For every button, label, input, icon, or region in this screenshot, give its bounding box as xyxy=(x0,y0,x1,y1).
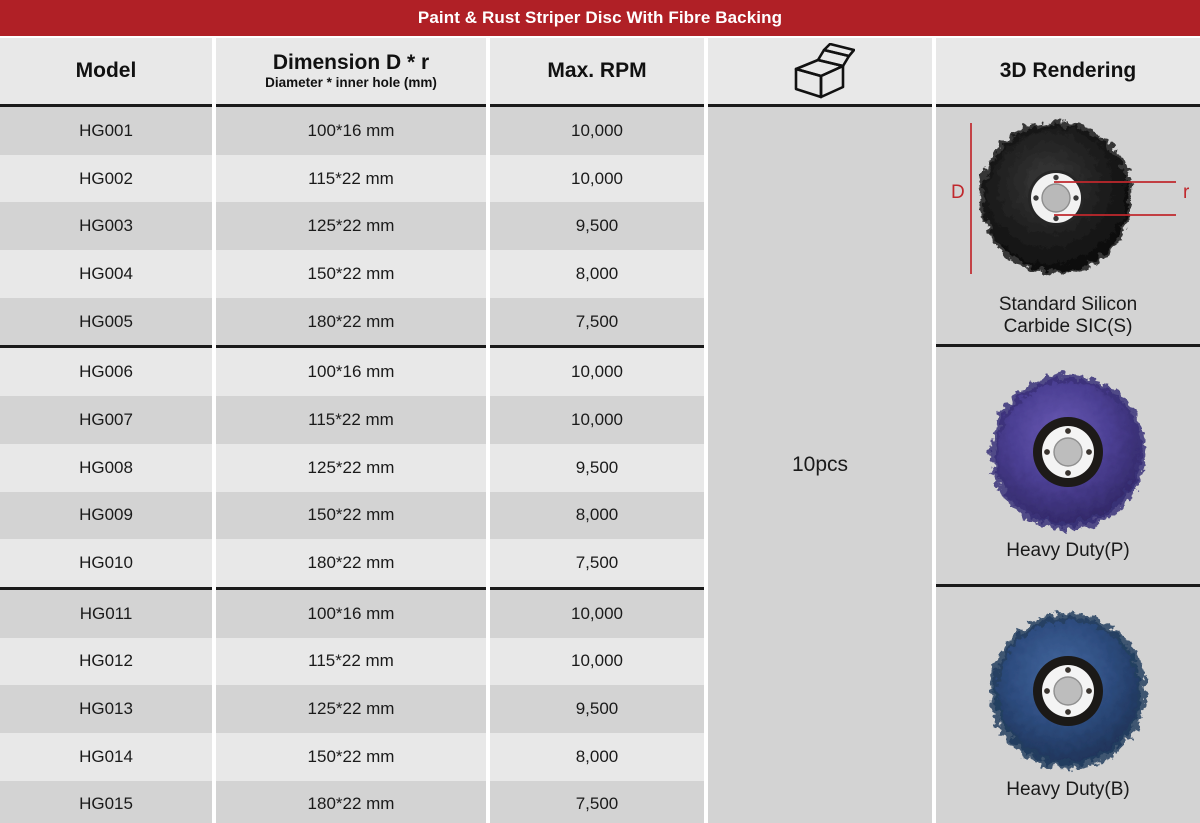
cell-dimension: 180*22 mm xyxy=(308,794,395,814)
packaging-quantity: 10pcs xyxy=(792,453,848,477)
cell-dimension: 125*22 mm xyxy=(308,216,395,236)
cell-model: HG012 xyxy=(79,651,133,671)
table-row: HG014 xyxy=(0,733,212,781)
cell-dimension: 180*22 mm xyxy=(308,312,395,332)
cell-model: HG015 xyxy=(79,794,133,814)
table-row: 10,000 xyxy=(490,348,704,396)
table-row: HG013 xyxy=(0,685,212,733)
column-header-model-label: Model xyxy=(76,59,137,82)
cell-model: HG002 xyxy=(79,169,133,189)
rendering-cell-heavy-duty-b: Heavy Duty(B) xyxy=(936,587,1200,822)
table-row: 100*16 mm xyxy=(216,590,486,638)
table-row: 180*22 mm xyxy=(216,539,486,587)
rendering-label-heavy-duty-p-line1: Heavy Duty(P) xyxy=(1006,540,1130,561)
table-row: 150*22 mm xyxy=(216,492,486,540)
cell-rpm: 8,000 xyxy=(576,747,619,767)
cell-dimension: 150*22 mm xyxy=(308,747,395,767)
column-body-rendering: D r Standard Silicon Carbide SIC(S) xyxy=(936,107,1200,823)
table-row: 180*22 mm xyxy=(216,781,486,823)
table-row: HG009 xyxy=(0,492,212,540)
table-row: 125*22 mm xyxy=(216,202,486,250)
table-row: 7,500 xyxy=(490,781,704,823)
column-model: Model HG001HG002HG003HG004HG005HG006HG00… xyxy=(0,38,212,823)
column-rendering: 3D Rendering xyxy=(936,38,1200,823)
cell-model: HG006 xyxy=(79,362,133,382)
table-row: 10,000 xyxy=(490,107,704,155)
table-row: HG010 xyxy=(0,539,212,587)
cell-dimension: 180*22 mm xyxy=(308,553,395,573)
page-title: Paint & Rust Striper Disc With Fibre Bac… xyxy=(0,0,1200,36)
cell-rpm: 10,000 xyxy=(571,410,623,430)
column-header-rpm-label: Max. RPM xyxy=(547,59,646,82)
table-row: 9,500 xyxy=(490,444,704,492)
table-row: 9,500 xyxy=(490,685,704,733)
column-header-packaging xyxy=(708,38,932,104)
cell-dimension: 150*22 mm xyxy=(308,505,395,525)
table-row: 7,500 xyxy=(490,539,704,587)
table-row: HG002 xyxy=(0,155,212,203)
table-row: 10,000 xyxy=(490,590,704,638)
table-row: HG005 xyxy=(0,298,212,346)
cell-rpm: 10,000 xyxy=(571,169,623,189)
column-dimension: Dimension D * r Diameter * inner hole (m… xyxy=(216,38,486,823)
table-row: HG003 xyxy=(0,202,212,250)
table-row: 150*22 mm xyxy=(216,733,486,781)
cell-rpm: 8,000 xyxy=(576,264,619,284)
table-row: 115*22 mm xyxy=(216,155,486,203)
cell-rpm: 10,000 xyxy=(571,362,623,382)
table-row: 10,000 xyxy=(490,396,704,444)
cell-dimension: 115*22 mm xyxy=(308,410,394,430)
rendering-label-sic: Standard Silicon Carbide SIC(S) xyxy=(999,294,1137,337)
table-row: 180*22 mm xyxy=(216,298,486,346)
table-row: 150*22 mm xyxy=(216,250,486,298)
table-row: 115*22 mm xyxy=(216,396,486,444)
table-row: 8,000 xyxy=(490,492,704,540)
cell-rpm: 7,500 xyxy=(576,312,619,332)
column-body-rpm: 10,00010,0009,5008,0007,50010,00010,0009… xyxy=(490,107,704,823)
rendering-label-heavy-duty-b-line1: Heavy Duty(B) xyxy=(1006,779,1130,800)
disc-image-sic xyxy=(936,114,1200,292)
table-row: HG004 xyxy=(0,250,212,298)
table-row: 7,500 xyxy=(490,298,704,346)
cell-rpm: 7,500 xyxy=(576,553,619,573)
cell-rpm: 10,000 xyxy=(571,604,623,624)
table-row: HG008 xyxy=(0,444,212,492)
column-header-rendering-label: 3D Rendering xyxy=(1000,59,1137,82)
column-header-dimension: Dimension D * r Diameter * inner hole (m… xyxy=(216,38,486,104)
cell-rpm: 7,500 xyxy=(576,794,619,814)
open-box-icon xyxy=(785,43,855,99)
column-header-dimension-sublabel: Diameter * inner hole (mm) xyxy=(265,75,437,91)
table-row: 10,000 xyxy=(490,638,704,686)
cell-model: HG004 xyxy=(79,264,133,284)
table-row: HG012 xyxy=(0,638,212,686)
cell-rpm: 9,500 xyxy=(576,458,619,478)
cell-model: HG008 xyxy=(79,458,133,478)
cell-model: HG007 xyxy=(79,410,133,430)
table-row: HG011 xyxy=(0,590,212,638)
cell-model: HG005 xyxy=(79,312,133,332)
cell-model: HG009 xyxy=(79,505,133,525)
rendering-label-sic-line2: Carbide SIC(S) xyxy=(999,316,1137,337)
cell-model: HG014 xyxy=(79,747,133,767)
cell-dimension: 150*22 mm xyxy=(308,264,395,284)
rendering-label-sic-line1: Standard Silicon xyxy=(999,294,1137,315)
column-rpm: Max. RPM 10,00010,0009,5008,0007,50010,0… xyxy=(490,38,704,823)
table-row: 100*16 mm xyxy=(216,348,486,396)
cell-rpm: 10,000 xyxy=(571,651,623,671)
cell-model: HG011 xyxy=(80,604,133,624)
cell-rpm: 8,000 xyxy=(576,505,619,525)
cell-rpm: 9,500 xyxy=(576,699,619,719)
packaging-cell: 10pcs xyxy=(708,107,932,823)
disc-image-heavy-duty-b xyxy=(968,609,1168,777)
cell-dimension: 125*22 mm xyxy=(308,458,395,478)
rendering-label-heavy-duty-b: Heavy Duty(B) xyxy=(1006,779,1130,800)
column-header-model: Model xyxy=(0,38,212,104)
column-header-rendering: 3D Rendering xyxy=(936,38,1200,104)
cell-dimension: 100*16 mm xyxy=(308,604,395,624)
cell-dimension: 115*22 mm xyxy=(308,651,394,671)
table-row: HG006 xyxy=(0,348,212,396)
cell-dimension: 100*16 mm xyxy=(308,362,395,382)
cell-model: HG003 xyxy=(79,216,133,236)
cell-model: HG010 xyxy=(79,553,133,573)
table-row: 8,000 xyxy=(490,733,704,781)
column-packaging: 10pcs xyxy=(708,38,932,823)
cell-rpm: 10,000 xyxy=(571,121,623,141)
rendering-label-heavy-duty-p: Heavy Duty(P) xyxy=(1006,540,1130,561)
column-header-rpm: Max. RPM xyxy=(490,38,704,104)
cell-model: HG001 xyxy=(79,121,133,141)
table-row: HG015 xyxy=(0,781,212,823)
table-row: 9,500 xyxy=(490,202,704,250)
column-body-dimension: 100*16 mm115*22 mm125*22 mm150*22 mm180*… xyxy=(216,107,486,823)
table-row: 100*16 mm xyxy=(216,107,486,155)
spec-sheet: Paint & Rust Striper Disc With Fibre Bac… xyxy=(0,0,1200,823)
table-row: 8,000 xyxy=(490,250,704,298)
table-row: 10,000 xyxy=(490,155,704,203)
cell-dimension: 115*22 mm xyxy=(308,169,394,189)
column-body-model: HG001HG002HG003HG004HG005HG006HG007HG008… xyxy=(0,107,212,823)
cell-model: HG013 xyxy=(79,699,133,719)
table-row: 125*22 mm xyxy=(216,685,486,733)
cell-rpm: 9,500 xyxy=(576,216,619,236)
column-header-dimension-label: Dimension D * r xyxy=(273,51,429,74)
disc-image-heavy-duty-p xyxy=(968,370,1168,538)
cell-dimension: 125*22 mm xyxy=(308,699,395,719)
table-row: HG007 xyxy=(0,396,212,444)
rendering-cell-heavy-duty-p: Heavy Duty(P) xyxy=(936,347,1200,584)
rendering-cell-sic: D r Standard Silicon Carbide SIC(S) xyxy=(936,107,1200,344)
cell-dimension: 100*16 mm xyxy=(308,121,395,141)
table-row: 125*22 mm xyxy=(216,444,486,492)
table-row: HG001 xyxy=(0,107,212,155)
table-row: 115*22 mm xyxy=(216,638,486,686)
